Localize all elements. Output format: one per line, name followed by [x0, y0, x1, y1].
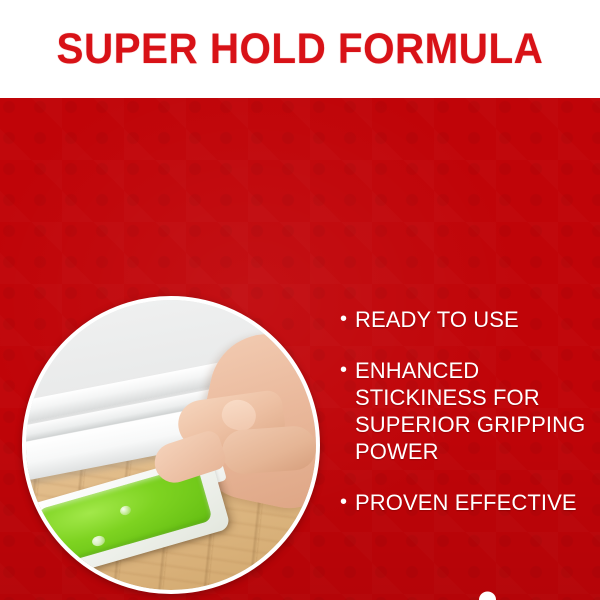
product-photo-image — [26, 300, 316, 590]
bullet-dot-icon: • — [340, 306, 355, 332]
bullet-label-proven-effective: PROVEN EFFECTIVE — [355, 489, 577, 516]
bullet-dot-icon: • — [340, 357, 355, 383]
hand-middle-finger — [221, 425, 316, 475]
bullet-label-ready-to-use: READY TO USE — [355, 306, 519, 333]
header-band: SUPER HOLD FORMULA — [0, 0, 600, 98]
mouse-icon — [460, 586, 552, 600]
bullet-label-enhanced-stickiness: ENHANCED STICKINESS FOR SUPERIOR GRIPPIN… — [355, 357, 585, 465]
product-photo-circle — [22, 296, 320, 594]
list-item: • READY TO USE — [340, 306, 590, 333]
feature-bullet-list: • READY TO USE • ENHANCED STICKINESS FOR… — [340, 306, 590, 540]
page-title: SUPER HOLD FORMULA — [53, 28, 547, 71]
list-item: • ENHANCED STICKINESS FOR SUPERIOR GRIPP… — [340, 357, 590, 465]
bullet-dot-icon: • — [340, 489, 355, 515]
red-content-panel: • READY TO USE • ENHANCED STICKINESS FOR… — [0, 98, 600, 600]
product-feature-poster: SUPER HOLD FORMULA — [0, 0, 600, 600]
list-item: • PROVEN EFFECTIVE — [340, 489, 590, 516]
